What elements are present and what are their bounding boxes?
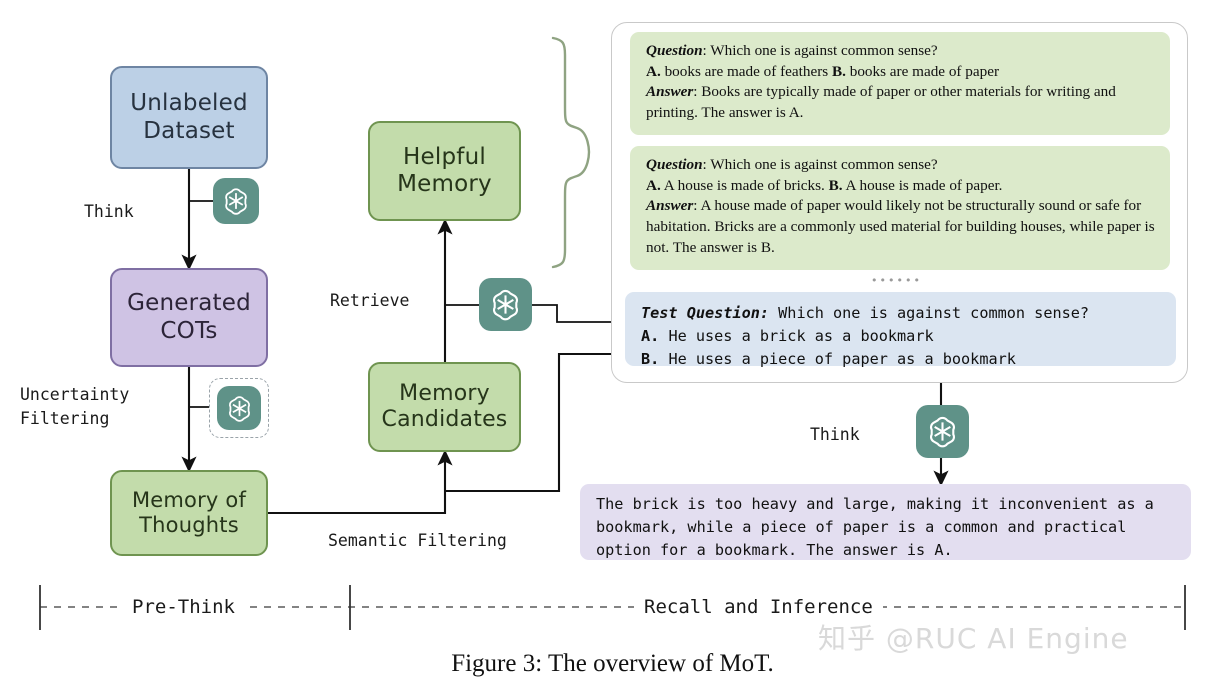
option-a-label: A. [641, 327, 659, 345]
node-label-line2: Memory [397, 171, 492, 198]
node-helpful-memory[interactable]: Helpful Memory [368, 121, 521, 221]
option-a-label: A. [646, 177, 661, 194]
node-label-line1: Memory of [132, 488, 246, 513]
node-generated-cots[interactable]: Generated COTs [110, 268, 268, 367]
answer-label: Answer [646, 197, 693, 214]
memory-example-card: Question: Which one is against common se… [630, 32, 1170, 135]
option-a-text: books are made of feathers [661, 63, 832, 80]
question-label: Question [646, 42, 703, 59]
openai-logo-icon [217, 386, 261, 430]
openai-logo-icon [479, 278, 532, 331]
openai-logo-icon [916, 405, 969, 458]
memory-example-card: Question: Which one is against common se… [630, 146, 1170, 270]
edge-label-think-pre: Think [84, 200, 134, 224]
figure-canvas: Unlabeled Dataset Generated COTs Memory … [0, 0, 1225, 699]
section-label-recall-and-inference: Recall and Inference [634, 596, 883, 618]
option-b-label: B. [829, 177, 843, 194]
section-label-pre-think: Pre-Think [122, 596, 245, 618]
edge-label-uncertainty-filtering: Uncertainty Filtering [20, 383, 129, 431]
node-label-line2: COTs [127, 318, 251, 345]
option-b-label: B. [832, 63, 846, 80]
node-label-line1: Unlabeled [130, 90, 248, 117]
edge-label-think-infer: Think [810, 423, 860, 447]
test-question-label: Test Question: [641, 304, 769, 322]
node-label-line1: Helpful [397, 144, 492, 171]
openai-logo-icon-dashed-frame [209, 378, 269, 438]
option-b-label: B. [641, 350, 659, 368]
option-b-text: He uses a piece of paper as a bookmark [659, 350, 1016, 368]
option-a-text: He uses a brick as a bookmark [659, 327, 933, 345]
node-label-line2: Dataset [130, 118, 248, 145]
node-label-line1: Generated [127, 290, 251, 317]
node-unlabeled-dataset[interactable]: Unlabeled Dataset [110, 66, 268, 169]
test-question-text: Which one is against common sense? [769, 304, 1089, 322]
openai-logo-icon [213, 178, 259, 224]
question-text: : Which one is against common sense? [703, 156, 938, 173]
question-text: : Which one is against common sense? [703, 42, 938, 59]
edge-label-semantic-filtering: Semantic Filtering [328, 529, 507, 553]
figure-caption: Figure 3: The overview of MoT. [0, 650, 1225, 678]
node-label-line2: Candidates [382, 407, 508, 433]
answer-text: : A house made of paper would likely not… [646, 197, 1155, 255]
test-question-card: Test Question: Which one is against comm… [625, 292, 1176, 366]
node-memory-candidates[interactable]: Memory Candidates [368, 362, 521, 452]
answer-label: Answer [646, 83, 693, 100]
option-a-label: A. [646, 63, 661, 80]
final-answer-card: The brick is too heavy and large, making… [580, 484, 1191, 560]
node-memory-of-thoughts[interactable]: Memory of Thoughts [110, 470, 268, 556]
question-label: Question [646, 156, 703, 173]
option-b-text: A house is made of paper. [843, 177, 1003, 194]
node-label-line1: Memory [382, 381, 508, 407]
option-a-text: A house is made of bricks. [661, 177, 829, 194]
option-b-text: books are made of paper [846, 63, 999, 80]
answer-text: : Books are typically made of paper or o… [646, 83, 1116, 121]
ellipsis-icon: •••••• [871, 274, 922, 287]
edge-label-retrieve: Retrieve [330, 289, 409, 313]
final-answer-text: The brick is too heavy and large, making… [596, 495, 1154, 559]
node-label-line2: Thoughts [132, 513, 246, 538]
